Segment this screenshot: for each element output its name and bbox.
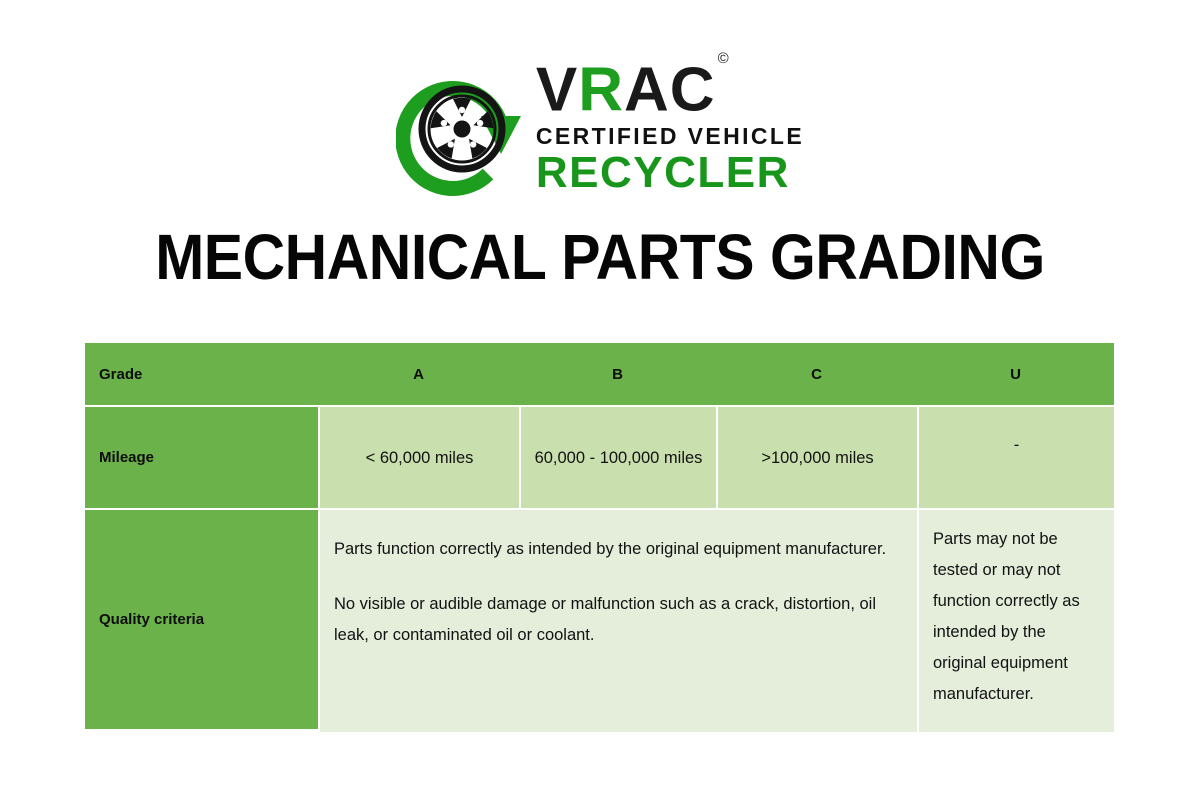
- mileage-grade-u-value: -: [917, 407, 1114, 508]
- wordmark-vrac: VRAC©: [536, 54, 728, 122]
- quality-criteria-abc-cell: Parts function correctly as intended by …: [318, 510, 917, 732]
- quality-criteria-u-cell: Parts may not be tested or may not funct…: [917, 510, 1114, 732]
- row-label-mileage: Mileage: [85, 407, 318, 508]
- copyright-icon: ©: [718, 50, 730, 67]
- logo-tagline: CERTIFIED VEHICLE: [536, 123, 804, 149]
- page-title: MECHANICAL PARTS GRADING: [48, 222, 1152, 292]
- logo-inner: VRAC© CERTIFIED VEHICLE RECYCLER: [396, 52, 804, 196]
- mileage-grade-c-value: >100,000 miles: [716, 407, 917, 508]
- logo-wordmark: VRAC© CERTIFIED VEHICLE RECYCLER: [536, 52, 804, 196]
- logo-recycler-word: RECYCLER: [536, 150, 790, 196]
- column-header-a: A: [318, 343, 519, 405]
- column-header-c: C: [716, 343, 917, 405]
- quality-criteria-paragraph-2: No visible or audible damage or malfunct…: [334, 589, 903, 651]
- table-header-row: Grade A B C U: [85, 343, 1114, 405]
- mechanical-parts-grading-table: Grade A B C U Mileage < 60,000 miles 60,…: [85, 343, 1114, 732]
- recycling-wheel-logo-icon: [396, 56, 528, 198]
- wordmark-letters-ac: AC: [624, 56, 716, 125]
- wordmark-letter-v: V: [536, 56, 578, 125]
- column-header-grade: Grade: [85, 343, 318, 405]
- row-label-quality-criteria: Quality criteria: [85, 510, 318, 729]
- brand-logo: VRAC© CERTIFIED VEHICLE RECYCLER: [0, 52, 1200, 202]
- table-row-mileage: Mileage < 60,000 miles 60,000 - 100,000 …: [85, 407, 1114, 508]
- quality-criteria-paragraph-1: Parts function correctly as intended by …: [334, 534, 903, 565]
- column-header-b: B: [519, 343, 716, 405]
- mileage-grade-a-value: < 60,000 miles: [318, 407, 519, 508]
- column-header-u: U: [917, 343, 1114, 405]
- mileage-grade-b-value: 60,000 - 100,000 miles: [519, 407, 716, 508]
- wordmark-letter-r: R: [578, 56, 624, 125]
- table-row-quality-criteria: Quality criteria Parts function correctl…: [85, 510, 1114, 732]
